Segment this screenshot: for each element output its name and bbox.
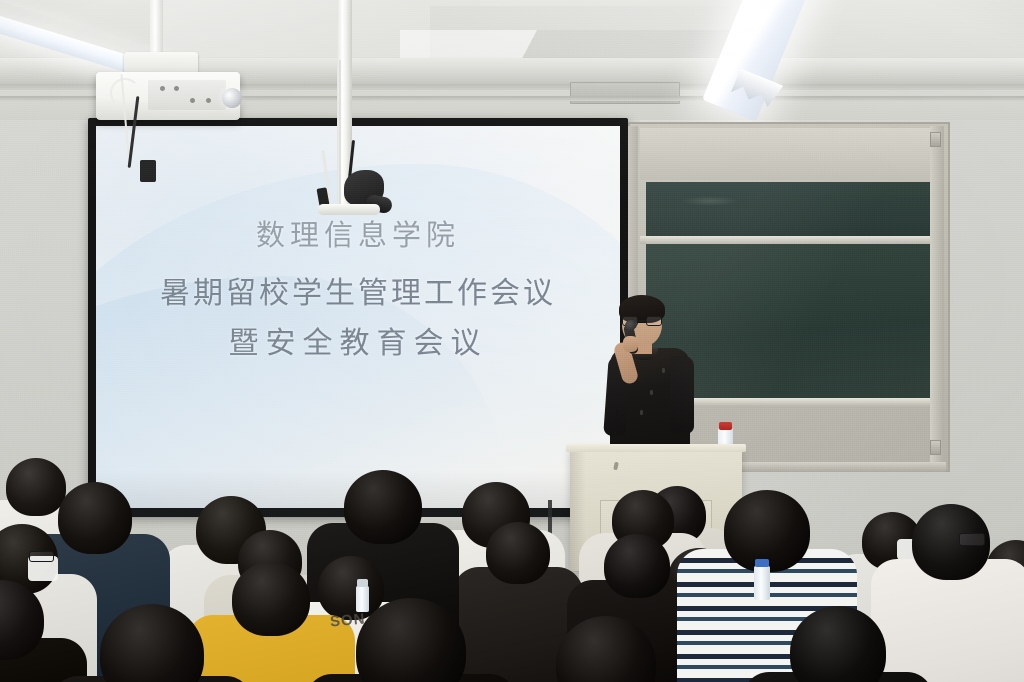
student-head bbox=[486, 522, 550, 584]
projector-port bbox=[160, 86, 165, 91]
student-head bbox=[344, 470, 422, 544]
projector-port bbox=[174, 86, 179, 91]
shirt-print-text: SON bbox=[329, 610, 366, 630]
presenter-arm-right bbox=[670, 356, 694, 434]
projector-port bbox=[190, 98, 195, 103]
bottle-cap bbox=[719, 422, 732, 430]
presenter bbox=[606, 298, 698, 450]
blackboard-header-panel bbox=[640, 128, 940, 180]
light-tube bbox=[702, 0, 812, 121]
glasses-bridge bbox=[638, 320, 646, 322]
projector-port bbox=[206, 98, 211, 103]
projector-mount-pole bbox=[150, 0, 163, 56]
crowd-bottle-blue-cap-cap bbox=[755, 559, 769, 567]
projector-panel bbox=[148, 80, 226, 110]
blackboard-bracket bbox=[930, 132, 941, 147]
audience-rows bbox=[0, 430, 1024, 682]
slide-line-2: 暑期留校学生管理工作会议 bbox=[96, 268, 620, 312]
glasses-icon bbox=[29, 551, 53, 563]
camera-base-plate bbox=[318, 204, 380, 215]
vga-connector-icon bbox=[140, 160, 156, 182]
student-head bbox=[58, 482, 132, 554]
presenter-hand bbox=[623, 336, 638, 352]
shirt-pattern-speck bbox=[662, 368, 665, 373]
student-head bbox=[6, 458, 66, 516]
glasses-lens bbox=[646, 316, 662, 326]
fluorescent-light-icon bbox=[718, 0, 1024, 116]
slide-line-3: 暨安全教育会议 bbox=[96, 318, 620, 362]
crowd-bottle-clear bbox=[356, 586, 369, 612]
crowd-bottle-blue-cap bbox=[754, 566, 770, 600]
student-head bbox=[232, 562, 310, 636]
glasses-icon bbox=[959, 533, 986, 546]
shirt-pattern-speck bbox=[650, 390, 653, 395]
blackboard-post bbox=[930, 126, 944, 470]
projector-lens bbox=[222, 88, 242, 108]
student-head bbox=[604, 534, 670, 598]
crowd-bottle-clear-cap bbox=[357, 579, 368, 587]
slide-text-block: 数理信息学院 暑期留校学生管理工作会议 暨安全教育会议 bbox=[96, 212, 620, 362]
slide-line-1: 数理信息学院 bbox=[96, 212, 620, 254]
lecture-hall-photo: 数理信息学院 暑期留校学生管理工作会议 暨安全教育会议 bbox=[0, 0, 1024, 682]
shirt-pattern-speck bbox=[640, 410, 643, 415]
pole-seam bbox=[339, 60, 341, 210]
